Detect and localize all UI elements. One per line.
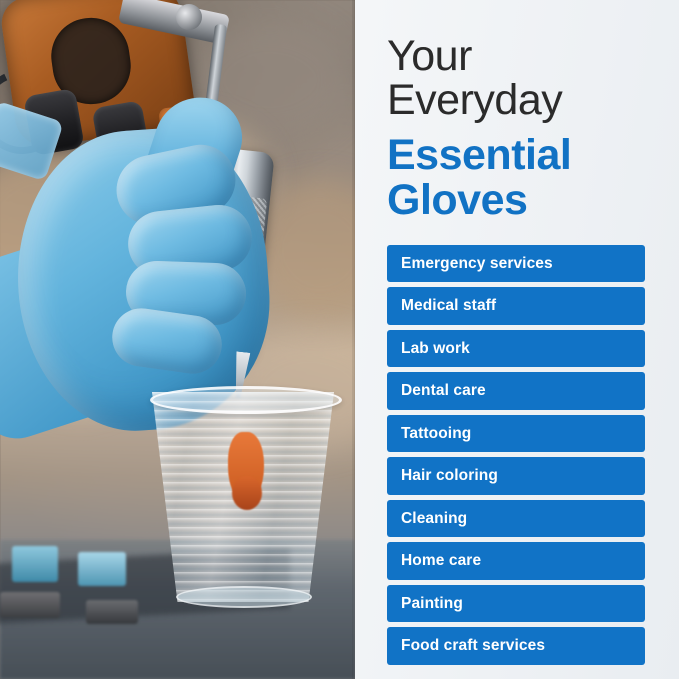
list-item: Dental care: [387, 372, 645, 410]
product-banner: Your Everyday Essential Gloves Emergency…: [0, 0, 679, 679]
subheadline-line-1: Essential: [387, 131, 571, 179]
content-panel: Your Everyday Essential Gloves Emergency…: [355, 0, 679, 679]
use-case-list: Emergency services Medical staff Lab wor…: [387, 245, 645, 665]
headline-line-2: Everyday: [387, 78, 645, 122]
equipment-item: [86, 600, 138, 624]
list-item: Hair coloring: [387, 457, 645, 495]
ink-cap: [12, 546, 58, 582]
list-item: Emergency services: [387, 245, 645, 283]
ink-residue: [232, 476, 262, 510]
headline: Your Everyday: [387, 34, 645, 123]
list-item: Painting: [387, 585, 645, 623]
tattoo-machine-screw: [176, 4, 202, 30]
list-item: Lab work: [387, 330, 645, 368]
product-photo: [0, 0, 355, 679]
list-item: Cleaning: [387, 500, 645, 538]
equipment-item: [0, 592, 60, 618]
list-item: Medical staff: [387, 287, 645, 325]
cup-base: [176, 586, 312, 608]
list-item: Food craft services: [387, 627, 645, 665]
ink-cap: [78, 552, 126, 586]
list-item: Tattooing: [387, 415, 645, 453]
subheadline: Essential Gloves: [387, 133, 645, 223]
cup-rim: [150, 386, 342, 414]
subheadline-line-2: Gloves: [387, 178, 645, 223]
headline-line-1: Your: [387, 32, 472, 80]
list-item: Home care: [387, 542, 645, 580]
